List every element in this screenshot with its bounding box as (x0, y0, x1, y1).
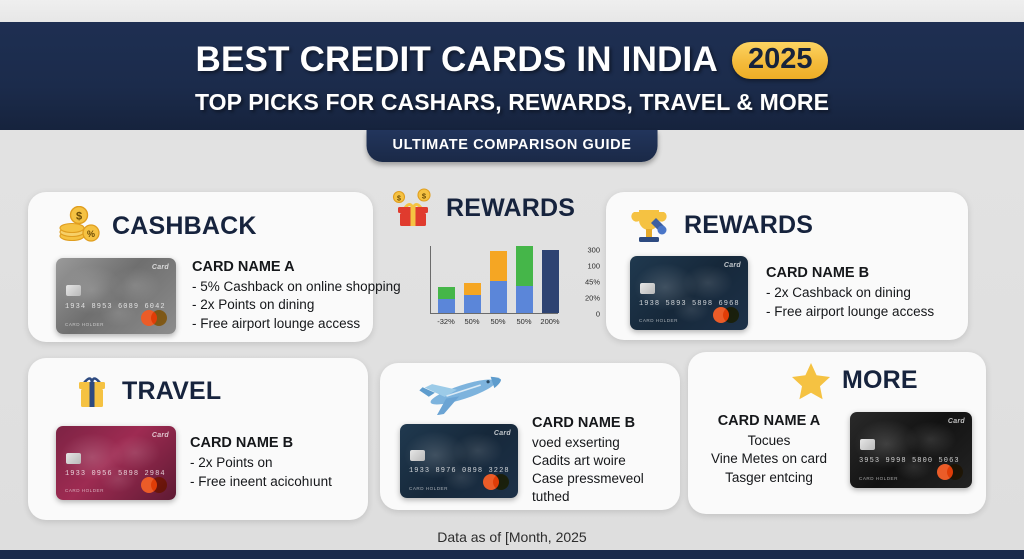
navy-credit-card: Card 1938 5893 5898 6968 CARD HOLDER (630, 256, 748, 330)
maroon-credit-card: Card 1933 0956 5898 2984 CARD HOLDER (56, 426, 176, 500)
bar-segment-blue (516, 286, 533, 313)
page-subtitle: TOP PICKS FOR CASHARS, REWARDS, TRAVEL &… (195, 89, 829, 116)
airplane-icon (418, 369, 508, 415)
bar-column (464, 283, 481, 313)
card-brand-label: Card (724, 262, 741, 269)
bar-segment-navy (542, 250, 559, 313)
bottom-bar (0, 550, 1024, 559)
card-benefit-line: Tasger entcing (694, 469, 844, 487)
bar-segment-green (438, 287, 455, 299)
rewards-bar-chart: 300 100 45% 20% 0 -3 (392, 242, 600, 337)
card-benefit-line: Cadits art woire (532, 452, 644, 470)
bar-column (490, 251, 507, 313)
panel-travel[interactable]: TRAVEL Card 1933 0956 5898 2984 CARD HOL… (28, 358, 368, 520)
card-benefit-line: - Free airport lounge access (766, 303, 934, 321)
card-holder-name: CARD HOLDER (409, 486, 448, 491)
bar-segment-green (516, 246, 533, 286)
panel-rewards-card-title: REWARDS (684, 211, 813, 240)
x-axis-tick: 200% (535, 318, 565, 326)
panel-travel-body: Card 1933 0956 5898 2984 CARD HOLDER CAR… (56, 426, 368, 500)
card-benefit-line: voed exserting (532, 434, 644, 452)
svg-text:$: $ (397, 195, 401, 202)
card-holder-name: CARD HOLDER (639, 318, 678, 323)
card-benefit-line: - Free ineent acicohıunt (190, 473, 332, 491)
card-holder-name: CARD HOLDER (859, 476, 898, 481)
panel-more-title: MORE (842, 366, 918, 395)
gift-box-icon (72, 370, 112, 412)
bar-segment-blue (464, 295, 481, 313)
gift-coins-icon: $ $ (392, 188, 436, 228)
card-name: CARD NAME A (192, 259, 401, 275)
y-axis-tick: 300 (566, 246, 600, 254)
card-name: CARD NAME B (766, 265, 934, 281)
svg-text:%: % (87, 229, 95, 239)
card-brand-label: Card (494, 430, 511, 437)
panel-airplane-info: CARD NAME B voed exserting Cadits art wo… (532, 415, 644, 506)
card-chip-icon (410, 450, 425, 461)
svg-text:$: $ (76, 211, 82, 223)
ultimate-comparison-guide-badge: ULTIMATE COMPARISON GUIDE (367, 130, 658, 162)
card-benefit-line: - 2x Cashback on dining (766, 284, 934, 302)
panel-cashback-info: CARD NAME A - 5% Cashback on online shop… (192, 259, 401, 332)
card-brand-label: Card (948, 418, 965, 425)
mastercard-logo-icon (141, 477, 167, 493)
card-benefit-line: - Free airport lounge access (192, 315, 401, 333)
panel-more[interactable]: MORE CARD NAME A Tocues Vine Metes on ca… (688, 352, 986, 514)
card-brand-label: Card (152, 264, 169, 271)
card-benefit-line: - 2x Points on dining (192, 296, 401, 314)
card-benefit-line: - 5% Cashback on online shopping (192, 278, 401, 296)
panel-airplane-body: Card 1933 8976 0898 3228 CARD HOLDER CAR… (400, 415, 680, 506)
card-chip-icon (860, 439, 875, 450)
panel-travel-header: TRAVEL (72, 370, 368, 412)
black-credit-card: Card 3953 9998 5800 5063 CARD HOLDER (850, 412, 972, 488)
card-chip-icon (640, 283, 655, 294)
panel-rewards-card-info: CARD NAME B - 2x Cashback on dining - Fr… (766, 265, 934, 320)
panel-rewards-chart-header: $ $ REWARDS (392, 188, 600, 228)
mastercard-logo-icon (483, 474, 509, 490)
card-benefit-line: Tocues (694, 432, 844, 450)
panel-cashback-body: Card 1934 8953 6089 6042 CARD HOLDER CAR… (56, 258, 373, 334)
mastercard-logo-icon (937, 464, 963, 480)
panel-cashback-title: CASHBACK (112, 212, 257, 241)
panel-rewards-card-body: Card 1938 5893 5898 6968 CARD HOLDER CAR… (630, 256, 968, 330)
card-holder-name: CARD HOLDER (65, 488, 104, 493)
bar-column (438, 287, 455, 313)
panel-rewards-card[interactable]: REWARDS Card 1938 5893 5898 6968 CARD HO… (606, 192, 968, 340)
mastercard-logo-icon (141, 310, 167, 326)
card-brand-label: Card (152, 432, 169, 439)
y-axis-tick: 20% (566, 294, 600, 302)
card-benefit-line: tuthed (532, 488, 644, 506)
card-benefit-line: Case pressmeveol (532, 470, 644, 488)
card-holder-name: CARD HOLDER (65, 322, 104, 327)
bar-column (516, 246, 533, 313)
card-name: CARD NAME A (694, 413, 844, 429)
panel-rewards-chart[interactable]: $ $ REWARDS 300 100 45% 20% 0 (392, 188, 600, 360)
panel-more-info: CARD NAME A Tocues Vine Metes on card Ta… (694, 413, 844, 486)
mastercard-logo-icon (713, 307, 739, 323)
panel-airplane-header (418, 369, 680, 415)
coins-icon: $ % (56, 206, 102, 246)
panel-airplane[interactable]: Card 1933 8976 0898 3228 CARD HOLDER CAR… (380, 363, 680, 510)
card-name: CARD NAME B (532, 415, 644, 431)
footer-note: Data as of [Month, 2025 (0, 529, 1024, 545)
panel-travel-info: CARD NAME B - 2x Points on - Free ineent… (190, 435, 332, 490)
card-benefit-line: - 2x Points on (190, 454, 332, 472)
page-header: BEST CREDIT CARDS IN INDIA 2025 TOP PICK… (0, 22, 1024, 130)
panel-rewards-chart-title: REWARDS (446, 194, 575, 223)
card-chip-icon (66, 285, 81, 296)
card-benefit-line: Vine Metes on card (694, 450, 844, 468)
bar-column (542, 250, 559, 313)
teal-credit-card: Card 1933 8976 0898 3228 CARD HOLDER (400, 424, 518, 498)
silver-credit-card: Card 1934 8953 6089 6042 CARD HOLDER (56, 258, 176, 334)
bar-segment-blue (490, 281, 507, 313)
chart-plot-area: -32% 50% 50% 50% 200% (430, 246, 558, 314)
bar-segment-orange (490, 251, 507, 281)
page-title: BEST CREDIT CARDS IN INDIA (196, 40, 718, 80)
card-chip-icon (66, 453, 81, 464)
panel-cashback-header: $ % CASHBACK (56, 206, 373, 246)
panel-more-body: CARD NAME A Tocues Vine Metes on card Ta… (694, 412, 986, 488)
panel-travel-title: TRAVEL (122, 377, 221, 406)
y-axis-tick: 0 (566, 310, 600, 318)
trophy-icon (628, 204, 674, 246)
panel-cashback[interactable]: $ % CASHBACK Card 1934 8953 6089 6042 CA… (28, 192, 373, 342)
bar-segment-blue (438, 299, 455, 313)
y-axis-tick: 100 (566, 262, 600, 270)
title-row: BEST CREDIT CARDS IN INDIA 2025 (196, 40, 829, 80)
star-icon (790, 360, 832, 400)
year-badge: 2025 (732, 42, 829, 79)
y-axis-tick: 45% (566, 278, 600, 286)
panel-rewards-card-header: REWARDS (628, 204, 968, 246)
bar-segment-orange (464, 283, 481, 295)
card-name: CARD NAME B (190, 435, 332, 451)
panel-more-header: MORE (790, 360, 986, 400)
